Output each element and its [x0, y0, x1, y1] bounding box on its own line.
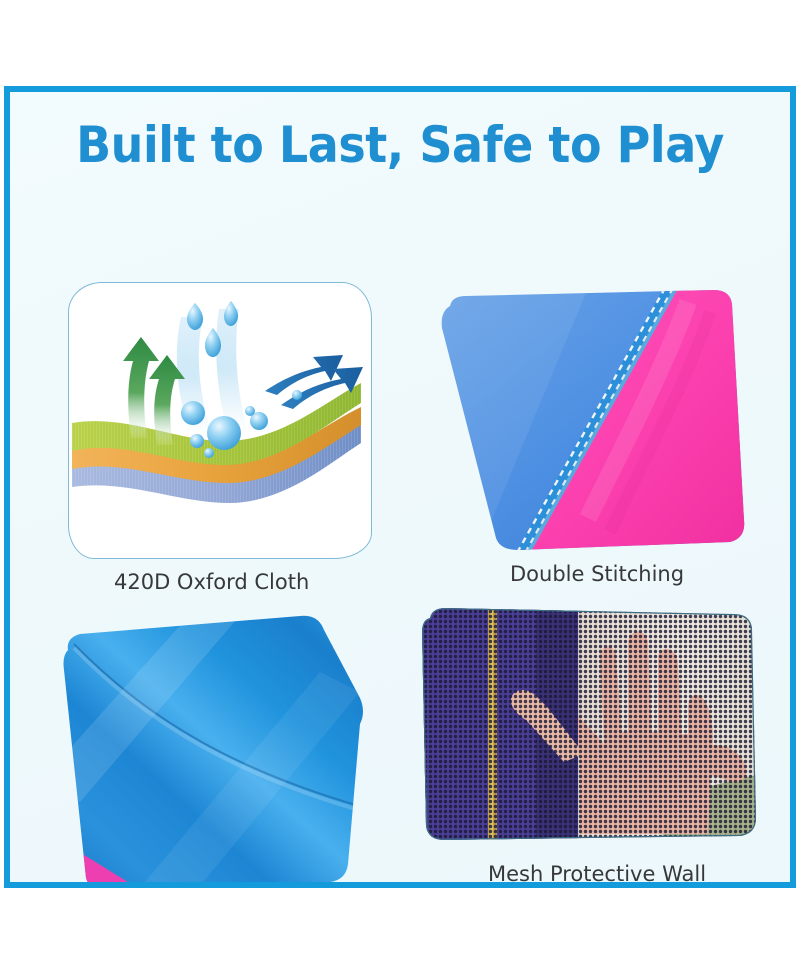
- panel-double-stitching-illustration: [438, 288, 756, 553]
- double-stitching-svg: [438, 288, 756, 553]
- pvc-surface-svg: [60, 612, 372, 888]
- water-droplet-top-2: [224, 301, 238, 326]
- caption-oxford-cloth: 420D Oxford Cloth: [114, 570, 309, 594]
- caption-double-stitching: Double Stitching: [510, 562, 684, 586]
- panel-mesh-wall-illustration: [408, 604, 760, 847]
- fabric-layers-diagram-svg: [69, 283, 371, 558]
- surface-droplet-6: [204, 448, 214, 458]
- surface-droplet-5: [190, 434, 204, 448]
- surface-droplet-2: [207, 416, 241, 450]
- mesh-wall-svg: [408, 604, 760, 847]
- panel-pvc-surface-illustration: [60, 612, 372, 888]
- breathability-arrow-1: [123, 337, 159, 438]
- page-title: Built to Last, Safe to Play: [41, 116, 759, 174]
- surface-droplet-4: [245, 406, 255, 416]
- surface-droplet-1: [181, 401, 205, 425]
- mesh-net-overlay: [408, 604, 760, 847]
- panel-oxford-cloth-illustration: [68, 282, 372, 559]
- caption-mesh-wall: Mesh Protective Wall: [488, 862, 706, 886]
- vapour-column-right: [216, 309, 247, 429]
- surface-droplet-7: [292, 390, 302, 400]
- poster-frame: Built to Last, Safe to Play: [4, 86, 796, 888]
- water-repel-arrow-1: [265, 355, 343, 395]
- water-droplet-top-1: [187, 303, 203, 330]
